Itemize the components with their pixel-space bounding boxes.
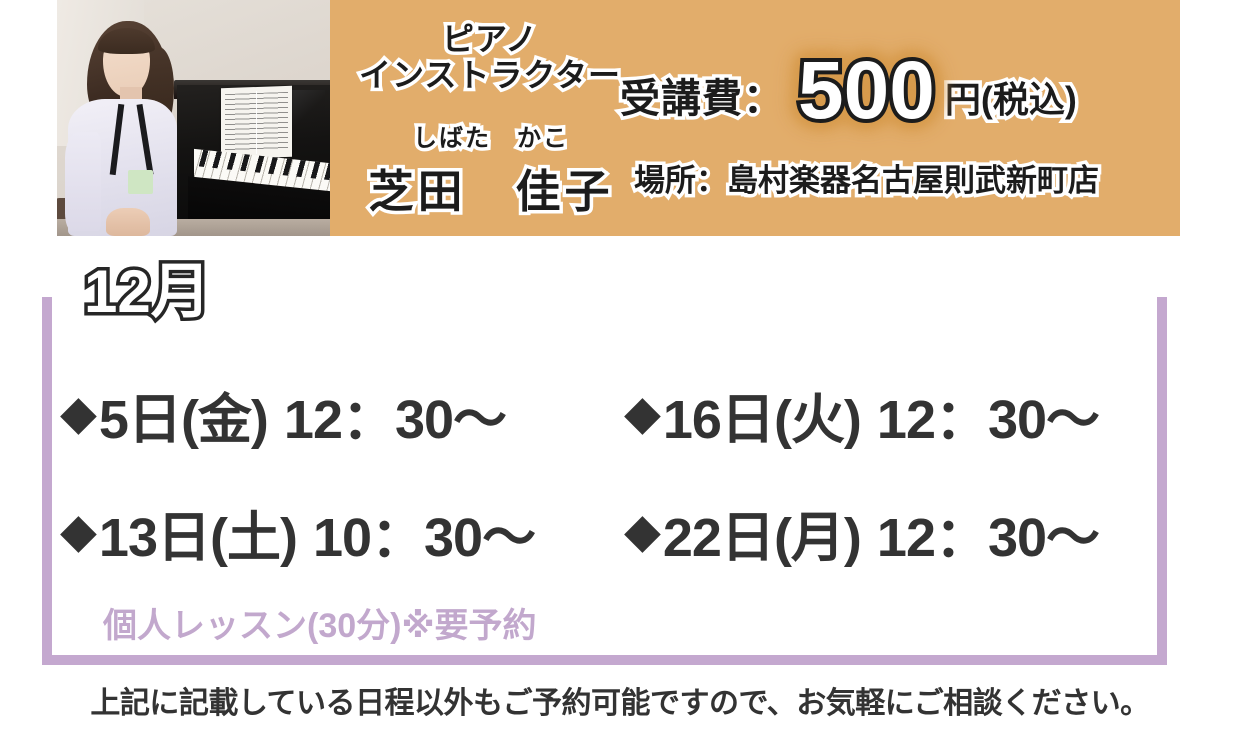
fee-amount: 500 bbox=[798, 52, 935, 130]
schedule-time: 12：30～ bbox=[877, 493, 1099, 572]
schedule-date: 5日(金) bbox=[99, 375, 268, 454]
schedule-entry[interactable]: ◆ 22日(月) 12：30～ bbox=[618, 493, 1162, 572]
schedule-row: ◆ 5日(金) 12：30～ ◆ 16日(火) 12：30～ bbox=[52, 355, 1162, 473]
fee-row: 受講費： 500 円(税込) bbox=[620, 46, 1077, 124]
diamond-icon: ◆ bbox=[624, 508, 661, 556]
schedule-time: 12：30～ bbox=[877, 375, 1099, 454]
photo-person-arm bbox=[65, 132, 100, 231]
schedule-date: 22日(月) bbox=[663, 493, 861, 572]
diamond-icon: ◆ bbox=[60, 390, 97, 438]
schedule-grid: ◆ 5日(金) 12：30～ ◆ 16日(火) 12：30～ ◆ 13日(土) … bbox=[52, 355, 1162, 591]
instructor-name: しばた かこ 芝田 佳子 bbox=[336, 118, 646, 220]
instructor-name-kanji: 芝田 佳子 bbox=[336, 155, 646, 220]
instructor-role-line1: ピアノ bbox=[340, 22, 640, 58]
schedule-entry[interactable]: ◆ 16日(火) 12：30～ bbox=[618, 375, 1162, 454]
schedule-time: 12：30～ bbox=[284, 375, 506, 454]
schedule-date: 16日(火) bbox=[663, 375, 861, 454]
photo-sheet-music-fold bbox=[256, 92, 257, 154]
venue-line: 場所：島村楽器名古屋則武新町店 bbox=[634, 155, 1099, 200]
schedule-row: ◆ 13日(土) 10：30～ ◆ 22日(月) 12：30～ bbox=[52, 473, 1162, 591]
month-badge: 12月 bbox=[84, 262, 211, 322]
photo-id-badge bbox=[128, 170, 153, 194]
footer-note: 上記に記載している日程以外もご予約可能ですので、お気軽にご相談ください。 bbox=[0, 678, 1240, 722]
schedule-time: 10：30～ bbox=[313, 493, 535, 572]
photo-sheet-music bbox=[221, 86, 292, 159]
schedule-date: 13日(土) bbox=[99, 493, 297, 572]
fee-label: 受講費： bbox=[620, 66, 784, 124]
instructor-photo bbox=[57, 0, 330, 236]
diamond-icon: ◆ bbox=[60, 508, 97, 556]
lesson-note: 個人レッスン(30分)※要予約 bbox=[103, 598, 537, 647]
schedule-entry[interactable]: ◆ 13日(土) 10：30～ bbox=[52, 493, 618, 572]
instructor-name-furigana: しばた かこ bbox=[336, 118, 646, 153]
instructor-role: ピアノ インストラクター bbox=[340, 22, 640, 94]
instructor-role-line2: インストラクター bbox=[340, 58, 640, 94]
schedule-entry[interactable]: ◆ 5日(金) 12：30～ bbox=[52, 375, 618, 454]
header-banner: ピアノ インストラクター しばた かこ 芝田 佳子 受講費： 500 円(税込)… bbox=[0, 0, 1240, 236]
diamond-icon: ◆ bbox=[624, 390, 661, 438]
photo-person-hands bbox=[106, 208, 150, 236]
fee-unit: 円(税込) bbox=[945, 71, 1077, 123]
